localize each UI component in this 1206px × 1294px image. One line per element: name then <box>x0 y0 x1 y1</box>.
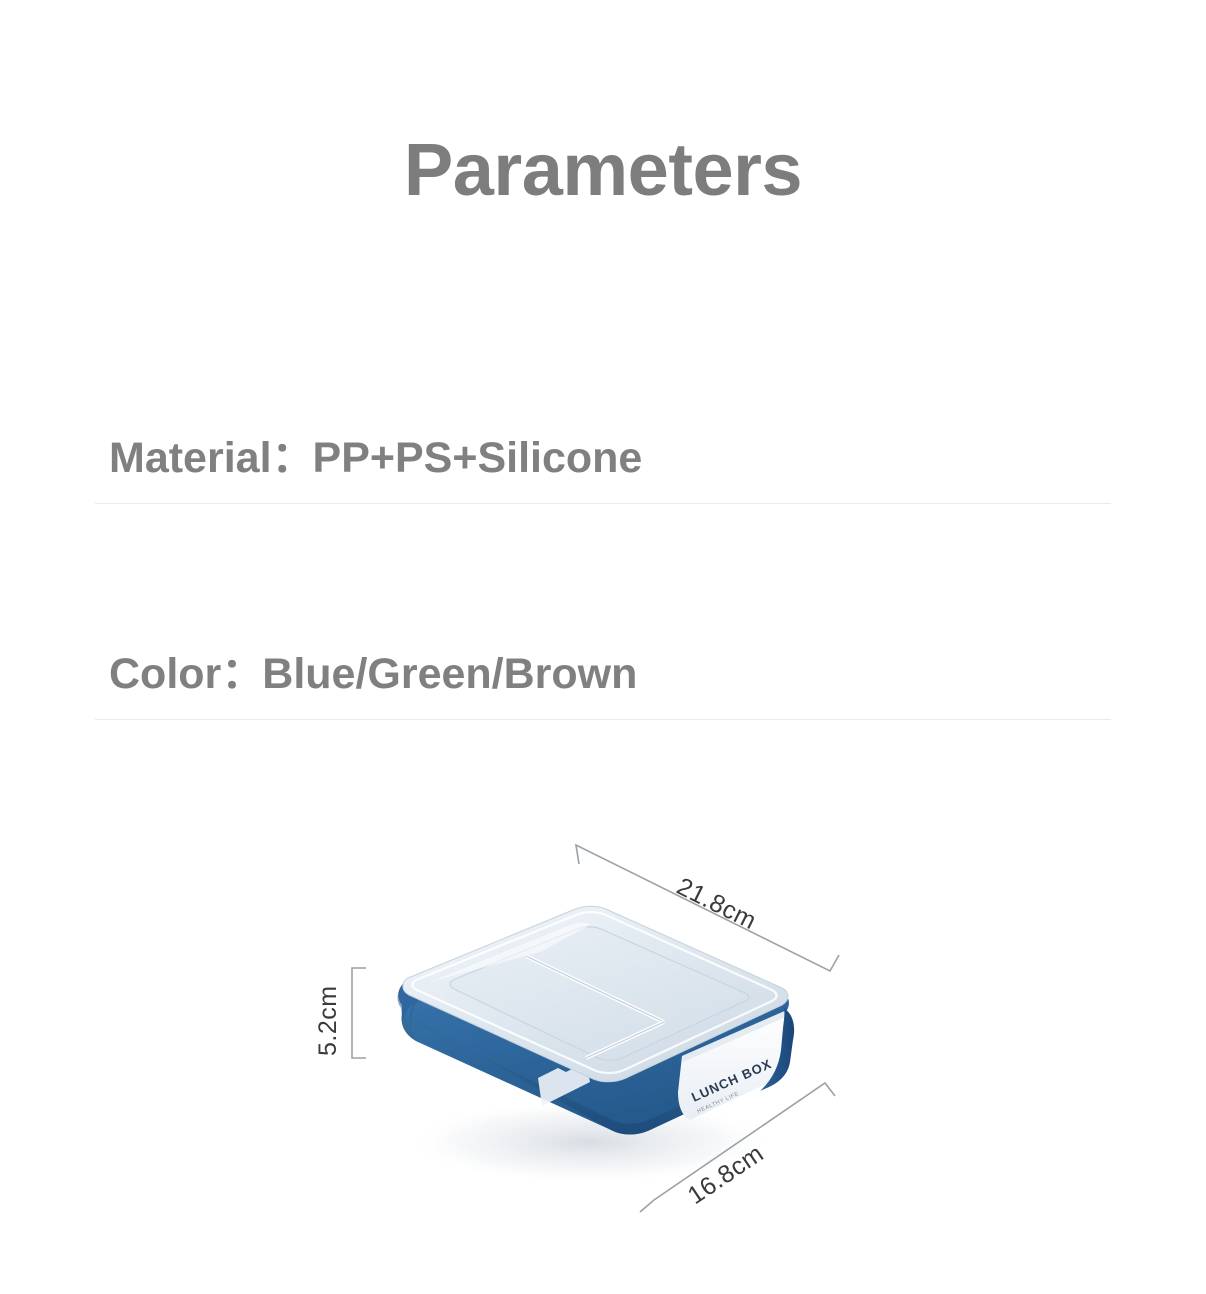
spec-line: Material：PP+PS+Silicone <box>95 432 1111 486</box>
dimension-height: 5.2cm <box>314 968 366 1058</box>
parameters-page: Parameters Material：PP+PS+Silicone Color… <box>0 0 1206 1294</box>
spec-row-color: Color：Blue/Green/Brown <box>95 648 1111 720</box>
spec-colon: ： <box>221 650 262 698</box>
spec-colon: ： <box>272 434 313 482</box>
spec-line: Color：Blue/Green/Brown <box>95 648 1111 702</box>
spec-value-color: Blue/Green/Brown <box>262 650 637 698</box>
dimension-width-label: 21.8cm <box>672 872 761 935</box>
spec-label-material: Material <box>109 434 272 482</box>
dimension-height-label: 5.2cm <box>314 985 342 1056</box>
spec-value-material: PP+PS+Silicone <box>313 434 643 482</box>
divider <box>95 719 1111 720</box>
spec-row-material: Material：PP+PS+Silicone <box>95 432 1111 504</box>
product-dimension-figure: 21.8cm 5.2cm <box>290 830 870 1250</box>
divider <box>95 503 1111 504</box>
page-title: Parameters <box>0 133 1206 207</box>
spec-label-color: Color <box>109 650 221 698</box>
